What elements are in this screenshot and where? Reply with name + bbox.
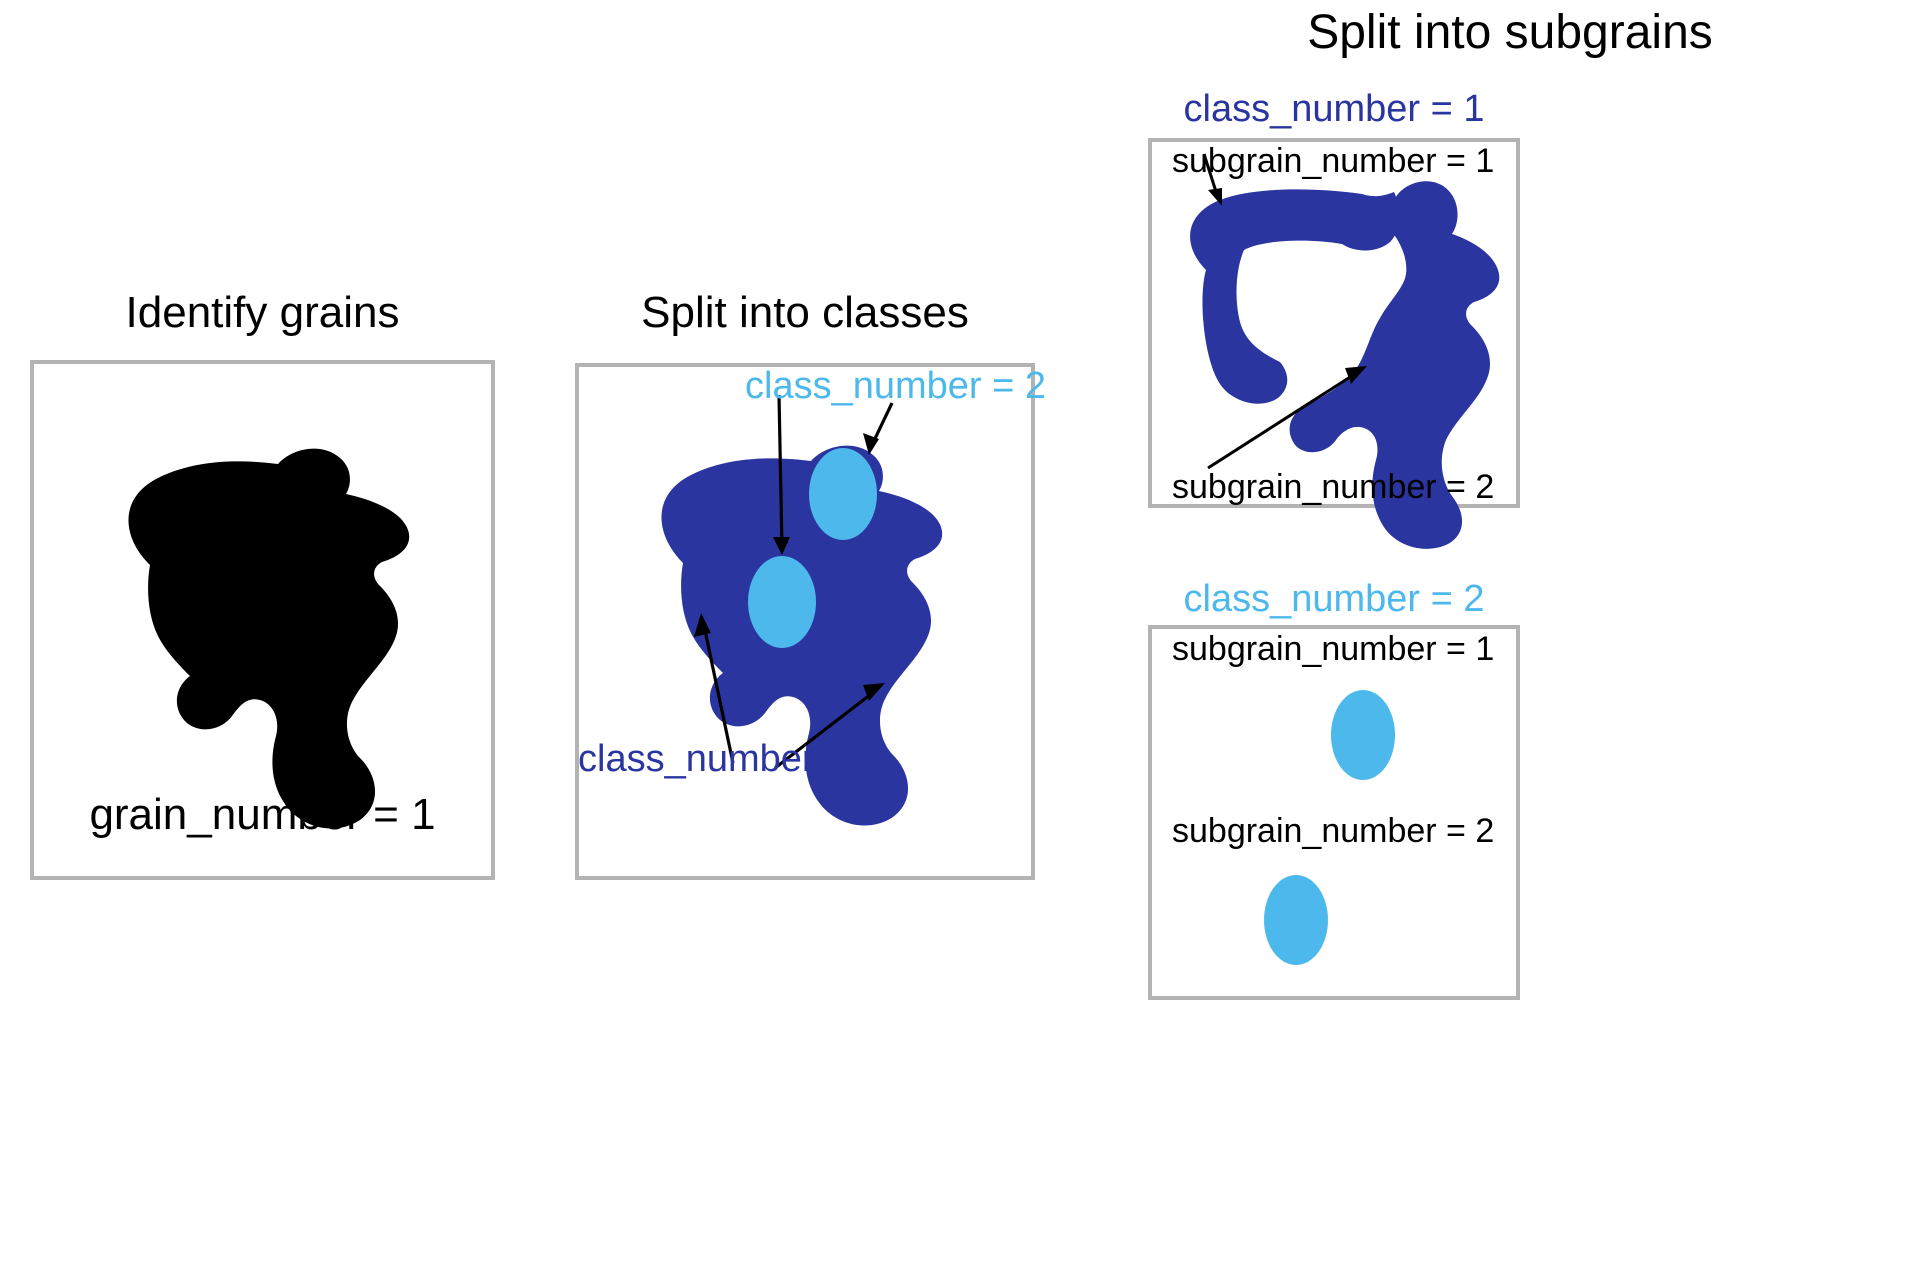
panel3-group1-subgrain2-label: subgrain_number = 2: [1172, 468, 1494, 507]
panel1-caption: grain_number = 1: [30, 790, 495, 840]
panel2-class1-label: class_number = 1: [578, 738, 879, 781]
figure-canvas: Identify grains grain_number = 1 Split i…: [0, 0, 1906, 1280]
panel3-group1-class-label: class_number = 1: [1148, 88, 1520, 131]
panel3-group2-subgrain2-label: subgrain_number = 2: [1172, 812, 1494, 851]
panel2-class2-label: class_number = 2: [745, 365, 1046, 408]
panel3-title: Split into subgrains: [1120, 8, 1900, 58]
panel3-group2-subgrain1-label: subgrain_number = 1: [1172, 630, 1494, 669]
panel2-box: [575, 363, 1035, 880]
panel2-title: Split into classes: [575, 290, 1035, 336]
panel3-group2-class-label: class_number = 2: [1148, 578, 1520, 621]
panel3-group1-box: [1148, 138, 1520, 508]
panel3-group1-subgrain1-label: subgrain_number = 1: [1172, 142, 1494, 181]
panel1-title: Identify grains: [30, 290, 495, 336]
